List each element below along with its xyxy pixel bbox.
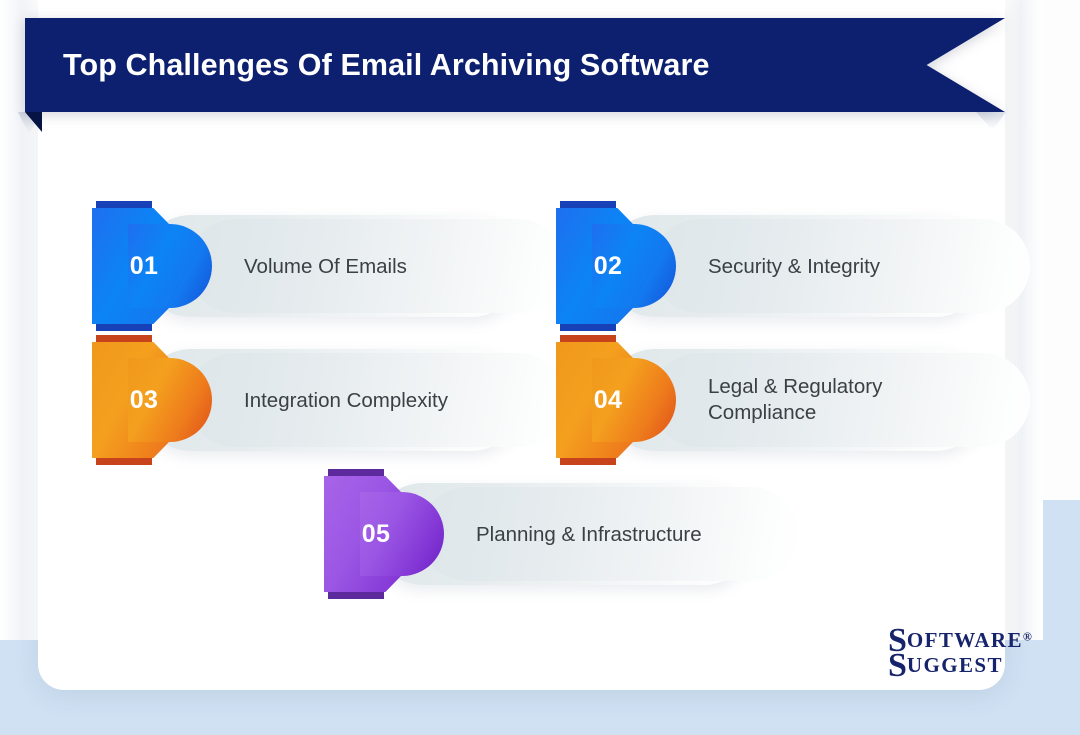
card-number: 03	[92, 342, 196, 458]
logo-line-2: SUGGEST	[888, 649, 1032, 683]
challenge-card-05[interactable]: 05 Planning & Infrastructure	[324, 483, 754, 585]
challenge-card-01[interactable]: 01 Volume Of Emails	[92, 215, 522, 317]
ribbon-arrow-icon: 03	[92, 335, 214, 465]
ribbon-arrow-icon: 04	[556, 335, 678, 465]
card-number: 05	[324, 476, 428, 592]
ribbon-arrow-icon: 05	[324, 469, 446, 599]
softwaresuggest-logo: SOFTWARE® SUGGEST	[888, 624, 1032, 683]
challenge-card-02[interactable]: 02 Security & Integrity	[556, 215, 986, 317]
title-banner: Top Challenges Of Email Archiving Softwa…	[25, 18, 1005, 112]
ribbon-arrow-icon: 01	[92, 201, 214, 331]
card-number: 01	[92, 208, 196, 324]
challenge-card-03[interactable]: 03 Integration Complexity	[92, 349, 522, 451]
logo-word-suggest: UGGEST	[907, 653, 1003, 677]
challenge-card-04[interactable]: 04 Legal & Regulatory Compliance	[556, 349, 986, 451]
card-label: Integration Complexity	[244, 349, 506, 451]
card-number: 02	[556, 208, 660, 324]
card-label: Security & Integrity	[708, 215, 970, 317]
infographic-canvas: Top Challenges Of Email Archiving Softwa…	[0, 0, 1080, 735]
logo-cap-s-2: S	[888, 647, 907, 684]
page-title: Top Challenges Of Email Archiving Softwa…	[63, 18, 710, 112]
right-edge-gradient	[1003, 0, 1043, 640]
card-label: Legal & Regulatory Compliance	[708, 349, 970, 451]
ribbon-arrow-icon: 02	[556, 201, 678, 331]
card-number: 04	[556, 342, 660, 458]
card-label: Planning & Infrastructure	[476, 483, 738, 585]
registered-trademark-icon: ®	[1023, 630, 1032, 644]
card-label: Volume Of Emails	[244, 215, 506, 317]
